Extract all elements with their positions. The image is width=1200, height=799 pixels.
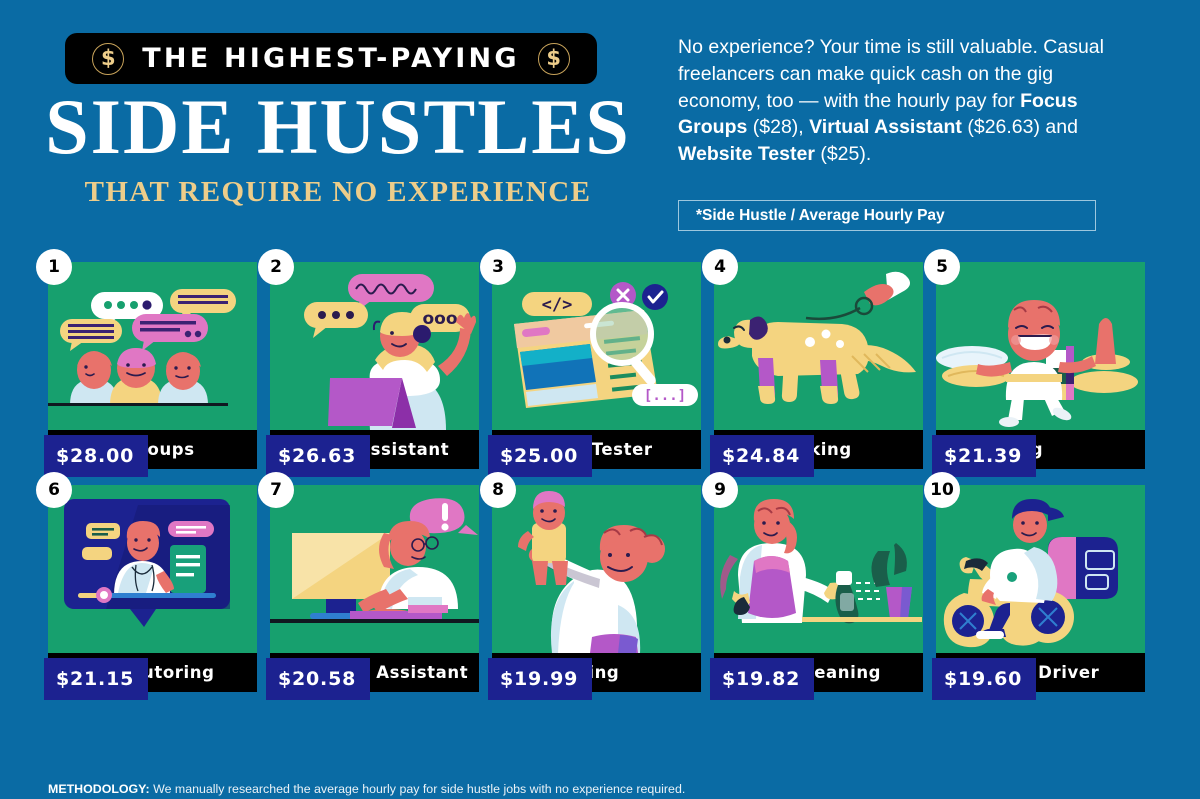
card-focus-groups[interactable]: $28.00 Focus Groups 1 [48, 262, 257, 469]
price-badge: $20.58 [266, 658, 370, 700]
intro-bold-website-tester: Website Tester [678, 143, 815, 165]
rank-badge: 10 [924, 472, 960, 508]
legend-box: *Side Hustle / Average Hourly Pay [678, 200, 1096, 231]
methodology-label: METHODOLOGY: [48, 782, 150, 796]
card-nannying[interactable]: $21.39 Nannying 5 [936, 262, 1145, 469]
intro-paragraph: No experience? Your time is still valuab… [678, 34, 1108, 168]
svg-text:ooo: ooo [422, 309, 457, 329]
intro-bold-virtual-assistant: Virtual Assistant [809, 116, 962, 138]
focus-groups-illustration [48, 262, 257, 430]
price-badge: $21.15 [44, 658, 148, 700]
price-value: $20.58 [266, 668, 356, 690]
intro-text-4: ($25). [815, 143, 871, 165]
rank-badge: 3 [480, 249, 516, 285]
dog-walking-illustration [714, 262, 923, 430]
personal-assistant-illustration [270, 485, 479, 653]
price-value: $21.15 [44, 668, 134, 690]
intro-text-3: ($26.63) and [962, 116, 1078, 138]
methodology-note: METHODOLOGY: We manually researched the … [48, 782, 1148, 797]
page-title: SIDE HUSTLES [28, 88, 648, 166]
header-pill: $ THE HIGHEST-PAYING $ [65, 33, 597, 84]
price-badge: $19.99 [488, 658, 592, 700]
rank-badge: 1 [36, 249, 72, 285]
card-online-tutoring[interactable]: $21.15 Online Tutoring 6 [48, 485, 257, 692]
intro-text-2: ($28), [747, 116, 809, 138]
price-value: $24.84 [710, 445, 800, 467]
price-badge: $26.63 [266, 435, 370, 477]
dollar-coin-icon-right: $ [538, 43, 570, 75]
card-virtual-assistant[interactable]: ooo [270, 262, 479, 469]
price-badge: $25.00 [488, 435, 592, 477]
price-value: $19.99 [488, 668, 578, 690]
price-value: $28.00 [44, 445, 134, 467]
methodology-text: We manually researched the average hourl… [150, 782, 686, 796]
price-value: $19.82 [710, 668, 800, 690]
card-row-2: $21.15 Online Tutoring 6 [48, 485, 1156, 692]
rank-badge: 2 [258, 249, 294, 285]
card-personal-assistant[interactable]: $20.58 Personal Assistant 7 [270, 485, 479, 692]
virtual-assistant-illustration: ooo [270, 262, 479, 430]
card-house-cleaning[interactable]: $19.82 House Cleaning 9 [714, 485, 923, 692]
card-row-1: $28.00 Focus Groups 1 [48, 262, 1156, 469]
online-tutoring-illustration [48, 485, 257, 653]
rank-badge: 8 [480, 472, 516, 508]
price-value: $26.63 [266, 445, 356, 467]
price-badge: $28.00 [44, 435, 148, 477]
house-cleaning-illustration [714, 485, 923, 653]
dollar-coin-icon-left: $ [92, 43, 124, 75]
rank-badge: 6 [36, 472, 72, 508]
nannying-illustration [936, 262, 1145, 430]
rank-badge: 9 [702, 472, 738, 508]
card-delivery-driver[interactable]: $19.60 Delivery Driver 10 [936, 485, 1145, 692]
card-babysitting[interactable]: $19.99 Babysitting 8 [492, 485, 701, 692]
price-value: $21.39 [932, 445, 1022, 467]
rank-badge: 7 [258, 472, 294, 508]
card-website-tester[interactable]: </> [492, 262, 701, 469]
delivery-driver-illustration [936, 485, 1145, 653]
page-subtitle: THAT REQUIRE NO EXPERIENCE [28, 176, 648, 209]
svg-text:[...]: [...] [644, 388, 686, 404]
card-grid: $28.00 Focus Groups 1 [48, 262, 1156, 692]
price-value: $25.00 [488, 445, 578, 467]
price-badge: $21.39 [932, 435, 1036, 477]
rank-badge: 5 [924, 249, 960, 285]
header-pill-text: THE HIGHEST-PAYING [142, 43, 519, 74]
babysitting-illustration [492, 485, 701, 653]
website-tester-illustration: </> [492, 262, 701, 430]
svg-text:</>: </> [542, 295, 573, 315]
card-dog-walking[interactable]: $24.84 Dog Walking 4 [714, 262, 923, 469]
infographic-page: $ THE HIGHEST-PAYING $ SIDE HUSTLES THAT… [0, 0, 1200, 799]
price-badge: $24.84 [710, 435, 814, 477]
price-value: $19.60 [932, 668, 1022, 690]
rank-badge: 4 [702, 249, 738, 285]
price-badge: $19.60 [932, 658, 1036, 700]
price-badge: $19.82 [710, 658, 814, 700]
legend-label: *Side Hustle / Average Hourly Pay [679, 207, 945, 225]
